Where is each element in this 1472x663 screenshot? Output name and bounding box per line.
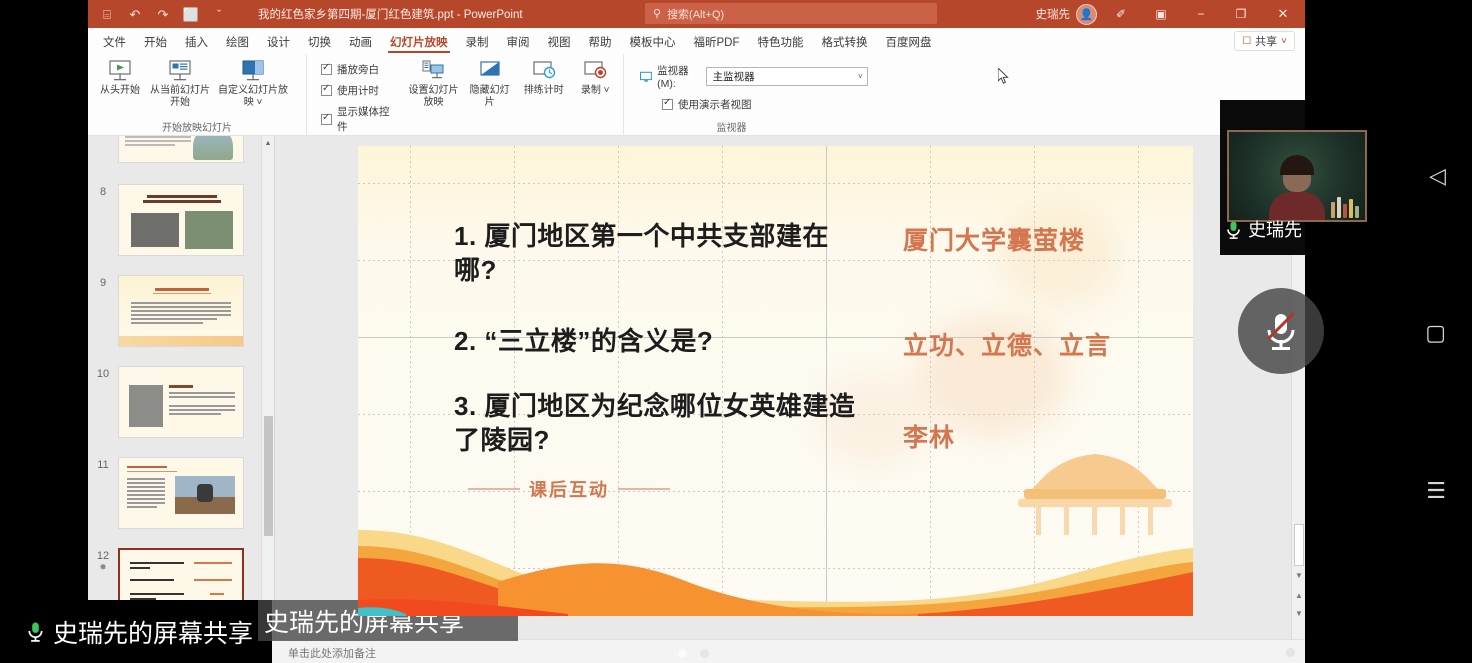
scroll-down-icon[interactable]: ▼ [1292,568,1305,583]
checkbox-label: 播放旁白 [337,62,379,77]
thumbnail-number: 8 [88,184,118,256]
microphone-icon [1224,220,1243,239]
set-up-show-button[interactable]: 设置幻灯片放映 [404,57,463,108]
save-icon[interactable]: ⌸ [94,3,120,25]
bookshelf-decor [1331,197,1359,218]
from-current-slide-icon [167,59,193,83]
from-beginning-label: 从头开始 [100,85,140,97]
tagline-text: 课后互动 [529,476,609,502]
from-beginning-icon [107,59,133,83]
share-label: 共享 [1255,33,1277,49]
participant-name: 史瑞先 [1248,216,1302,242]
question-2[interactable]: 2. “三立楼”的含义是? [454,324,854,358]
checkbox-icon [321,114,332,125]
participant-video-tile[interactable] [1227,130,1367,222]
search-icon: ⚲ [653,7,661,20]
answer-2[interactable]: 立功、立德、立言 [903,326,1111,362]
answer-3-text: 李林 [903,418,955,454]
tab-baidu-netdisk[interactable]: 百度网盘 [877,35,941,55]
checkbox-icon [321,64,332,75]
tab-record[interactable]: 录制 [457,35,498,55]
restore-button[interactable]: ❐ [1221,0,1261,28]
thumbnail-number: 7 [88,136,118,163]
ribbon-tab-strip: 文件 开始 插入 绘图 设计 切换 动画 幻灯片放映 录制 审阅 视图 帮助 模… [88,28,1305,54]
nav-dot[interactable] [700,649,709,658]
menu-icon[interactable]: ☰ [1426,478,1446,504]
checkbox-label: 使用演示者视图 [678,97,752,112]
meeting-left-backdrop [0,0,88,663]
tab-home[interactable]: 开始 [135,35,176,55]
notes-resize-dot[interactable] [1286,648,1295,657]
checkbox-use-timings[interactable]: 使用计时 [321,83,396,98]
thumbnail-preview[interactable] [118,136,244,163]
thumbnail-slide-10[interactable]: 10 [88,366,260,438]
record-slide-show-icon [582,59,608,83]
previous-slide-icon[interactable]: ▲ [1292,588,1305,603]
customize-qat-icon[interactable]: ˇ [206,3,232,25]
ribbon: 从头开始 从当前幻灯片开始 [88,54,1305,136]
monitor-value: 主监视器 [713,69,755,84]
mute-indicator[interactable] [1238,288,1324,374]
tab-slide-show[interactable]: 幻灯片放映 [381,35,457,55]
meeting-control-strip: ◁ ▢ ☰ [1305,0,1472,663]
monitor-controls: 监视器(M): 主监视器 ˅ 使用演示者视图 [630,57,876,112]
screen-share-banner: 史瑞先的屏幕共享 [0,600,272,663]
redo-icon[interactable]: ↷ [150,3,176,25]
monitor-icon [640,71,652,83]
tab-view[interactable]: 视图 [539,35,580,55]
answer-1-text: 厦门大学囊萤楼 [903,221,1085,257]
title-bar-right: 史瑞先 👤 ✐ ▣ − ❐ ✕ [1036,0,1306,28]
question-1[interactable]: 1. 厦门地区第一个中共支部建在哪? [454,219,854,288]
tab-file[interactable]: 文件 [94,35,135,55]
thumbnail-preview[interactable] [118,184,244,256]
record-slide-show-label: 录制 ˅ [581,85,610,97]
ribbon-group-setup: 设置幻灯片放映 隐藏幻灯片 [306,54,623,136]
set-up-show-icon [420,59,446,83]
from-beginning-button[interactable]: 从头开始 [94,57,146,97]
rehearse-timings-button[interactable]: 排练计时 [516,57,571,97]
tab-animations[interactable]: 动画 [340,35,381,55]
checkbox-play-narrations[interactable]: 播放旁白 [321,62,396,77]
nav-dot-active[interactable] [678,649,687,658]
set-up-show-label: 设置幻灯片放映 [404,85,463,108]
participant-name-row: 史瑞先 [1224,216,1302,242]
rehearse-timings-label: 排练计时 [524,85,564,97]
group-label-monitors: 监视器 [624,119,839,136]
thumbnail-slide-7[interactable]: 7 [88,136,260,163]
screen-root: ⌸ ↶ ↷ ⬜ ˇ 我的红色家乡第四期-厦门红色建筑.ppt - PowerPo… [0,0,1472,663]
answer-1[interactable]: 厦门大学囊萤楼 [903,221,1085,257]
custom-slide-show-icon [240,59,266,83]
chevron-down-icon: ˅ [1281,36,1287,47]
thumbnail-number: 9 [88,275,118,347]
slide-nav-dots [678,649,709,658]
grid-line-h [358,183,1193,184]
tab-template-center[interactable]: 模板中心 [621,35,685,55]
scroll-up-icon[interactable]: ▲ [262,136,274,150]
next-slide-icon[interactable]: ▼ [1292,606,1305,621]
setup-checkbox-group: 播放旁白 使用计时 显示媒体控件 [313,57,402,134]
thumbnail-number: 11 [88,457,118,529]
tagline-row[interactable]: 课后互动 [468,476,670,502]
pen-icon[interactable]: ✐ [1101,0,1141,28]
microphone-muted-icon [1259,307,1303,355]
slide-editing-area[interactable]: 1. 厦门地区第一个中共支部建在哪? 厦门大学囊萤楼 2. “三立楼”的含义是?… [275,136,1305,639]
participant-figure [1275,158,1319,192]
search-placeholder: 搜索(Alt+Q) [667,6,724,22]
microphone-icon [26,622,45,641]
quick-access-toolbar: ⌸ ↶ ↷ ⬜ ˇ [88,3,232,25]
tab-transitions[interactable]: 切换 [299,35,340,55]
scroll-thumb[interactable] [1294,524,1304,566]
hide-slide-icon [477,59,503,83]
tab-review[interactable]: 审阅 [498,35,539,55]
rehearse-timings-icon [531,59,557,83]
undo-icon[interactable]: ↶ [122,3,148,25]
tab-insert[interactable]: 插入 [176,35,217,55]
checkbox-icon [662,99,673,110]
checkbox-label: 显示媒体控件 [337,104,396,134]
ribbon-display-icon[interactable]: ▣ [1141,0,1181,28]
thumbnail-scroll-thumb[interactable] [264,416,273,536]
question-2-text: 2. “三立楼”的含义是? [454,324,854,358]
avatar: 👤 [1076,4,1097,25]
slide-animation-star-icon: ✸ [88,562,118,573]
monitor-select[interactable]: 主监视器 ˅ [706,67,868,86]
from-current-slide-button[interactable]: 从当前幻灯片开始 [148,57,212,108]
thumbnail-slide-11[interactable]: 11 [88,457,260,529]
title-bar: ⌸ ↶ ↷ ⬜ ˇ 我的红色家乡第四期-厦门红色建筑.ppt - PowerPo… [88,0,1305,28]
thumbnail-slide-8[interactable]: 8 [88,184,260,256]
hide-slide-button[interactable]: 隐藏幻灯片 [465,57,514,108]
tab-draw[interactable]: 绘图 [217,35,258,55]
checkbox-label: 使用计时 [337,83,379,98]
checkbox-presenter-view[interactable]: 使用演示者视图 [640,97,868,112]
custom-slide-show-button[interactable]: 自定义幻灯片放映 ˅ [214,57,292,108]
search-input[interactable]: ⚲ 搜索(Alt+Q) [645,3,937,24]
checkbox-show-media-controls[interactable]: 显示媒体控件 [321,104,396,134]
tab-help[interactable]: 帮助 [580,35,621,55]
mouse-cursor [998,68,1009,84]
answer-3[interactable]: 李林 [903,418,955,454]
share-banner-text: 史瑞先的屏幕共享 [53,614,253,650]
back-arrow-icon[interactable]: ◁ [1429,163,1446,189]
current-slide[interactable]: 1. 厦门地区第一个中共支部建在哪? 厦门大学囊萤楼 2. “三立楼”的含义是?… [358,146,1193,616]
notes-placeholder: 单击此处添加备注 [288,645,376,661]
stop-square-icon[interactable]: ▢ [1425,320,1446,346]
hide-slide-label: 隐藏幻灯片 [465,85,514,108]
workspace: 7 8 [88,136,1305,639]
account-name: 史瑞先 [1036,6,1071,22]
tab-special-features[interactable]: 特色功能 [749,35,813,55]
account-button[interactable]: 史瑞先 👤 [1036,4,1102,25]
tab-design[interactable]: 设计 [258,35,299,55]
thumbnail-preview[interactable] [118,275,244,347]
thumbnail-slide-9[interactable]: 9 [88,275,260,347]
answer-2-text: 立功、立德、立言 [903,326,1111,362]
ribbon-group-monitors: 监视器(M): 主监视器 ˅ 使用演示者视图 监视器 [623,54,839,136]
from-current-slide-label: 从当前幻灯片开始 [148,85,212,108]
wave-decoration [358,496,1193,616]
chevron-down-icon: ˅ [858,72,863,81]
present-icon[interactable]: ⬜ [178,3,204,25]
question-3-text: 3. 厦门地区为纪念哪位女英雄建造了陵园? [454,389,864,458]
thumbnail-preview[interactable] [118,457,244,529]
share-button[interactable]: ☐ 共享 ˅ [1234,31,1295,51]
custom-slide-show-label: 自定义幻灯片放映 ˅ [214,85,292,108]
monitor-row: 监视器(M): 主监视器 ˅ [640,63,868,90]
group-label-start-show: 开始放映幻灯片 [88,119,306,136]
question-3[interactable]: 3. 厦门地区为纪念哪位女英雄建造了陵园? [454,389,864,458]
share-icon: ☐ [1242,36,1251,47]
tagline-dash-right [618,488,670,490]
thumbnail-preview[interactable] [118,366,244,438]
hair-shape [1280,155,1314,175]
slide-thumbnail-pane[interactable]: 7 8 [88,136,275,639]
thumbnail-scrollbar[interactable]: ▲ [261,136,274,639]
tab-foxit-pdf[interactable]: 福昕PDF [685,35,749,55]
minimize-button[interactable]: − [1181,0,1221,28]
question-1-text: 1. 厦门地区第一个中共支部建在哪? [454,219,854,288]
thumbnail-number-label: 12 [97,550,109,562]
record-slide-show-button[interactable]: 录制 ˅ [573,57,617,97]
document-title: 我的红色家乡第四期-厦门红色建筑.ppt - PowerPoint [258,0,523,28]
checkbox-icon [321,85,332,96]
ribbon-group-start-show: 从头开始 从当前幻灯片开始 [88,54,306,136]
tab-format-convert[interactable]: 格式转换 [813,35,877,55]
monitor-label: 监视器(M): [657,63,701,90]
close-button[interactable]: ✕ [1261,0,1305,28]
tagline-dash-left [468,488,520,490]
thumbnail-number: 10 [88,366,118,438]
powerpoint-window: ⌸ ↶ ↷ ⬜ ˇ 我的红色家乡第四期-厦门红色建筑.ppt - PowerPo… [88,0,1305,663]
